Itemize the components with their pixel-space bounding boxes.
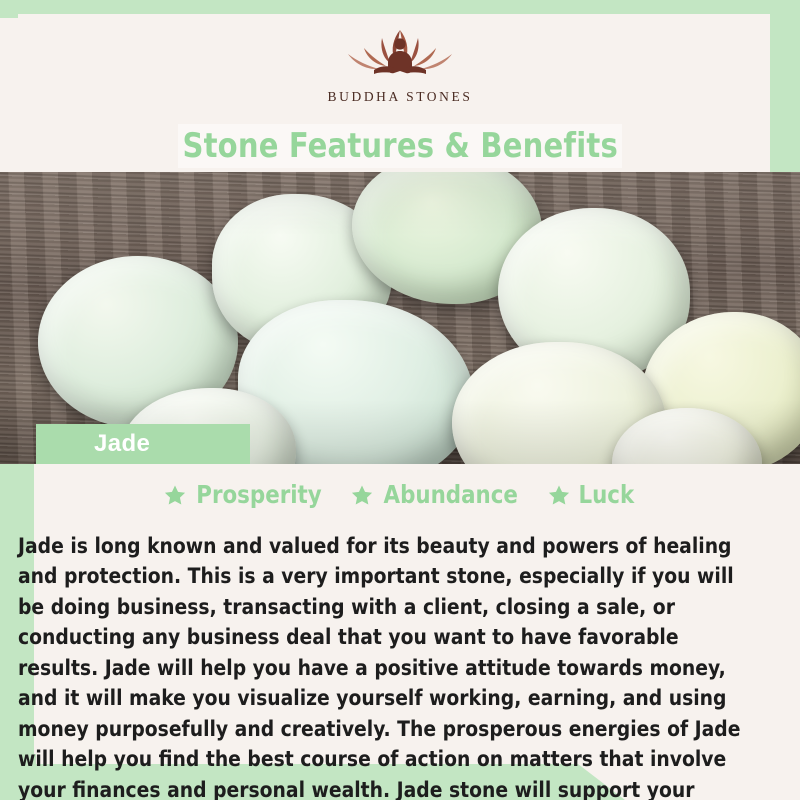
photo-vignette <box>0 172 800 464</box>
star-icon <box>164 484 186 506</box>
benefits-row: Prosperity Abundance Luck <box>0 480 800 509</box>
benefit-item-prosperity: Prosperity <box>164 480 325 509</box>
lotus-meditation-icon <box>336 22 464 84</box>
benefit-label: Luck <box>578 480 634 509</box>
benefit-item-luck: Luck <box>548 480 636 509</box>
star-icon <box>351 484 373 506</box>
stone-benefits-poster: BUDDHA STONES Stone Features & Benefits … <box>0 0 800 800</box>
stone-name: Jade <box>94 430 150 458</box>
stone-name-band: Jade <box>36 424 250 464</box>
stone-description: Jade is long known and valued for its be… <box>18 532 761 800</box>
benefit-label: Abundance <box>384 480 518 509</box>
benefit-label: Prosperity <box>197 480 322 509</box>
benefit-item-abundance: Abundance <box>351 480 521 509</box>
page-title-band: Stone Features & Benefits <box>178 124 622 168</box>
brand-wordmark: BUDDHA STONES <box>0 89 800 105</box>
hero-image <box>0 172 800 464</box>
brand-logo: BUDDHA STONES <box>0 22 800 105</box>
page-title: Stone Features & Benefits <box>182 126 617 166</box>
star-icon <box>548 484 570 506</box>
